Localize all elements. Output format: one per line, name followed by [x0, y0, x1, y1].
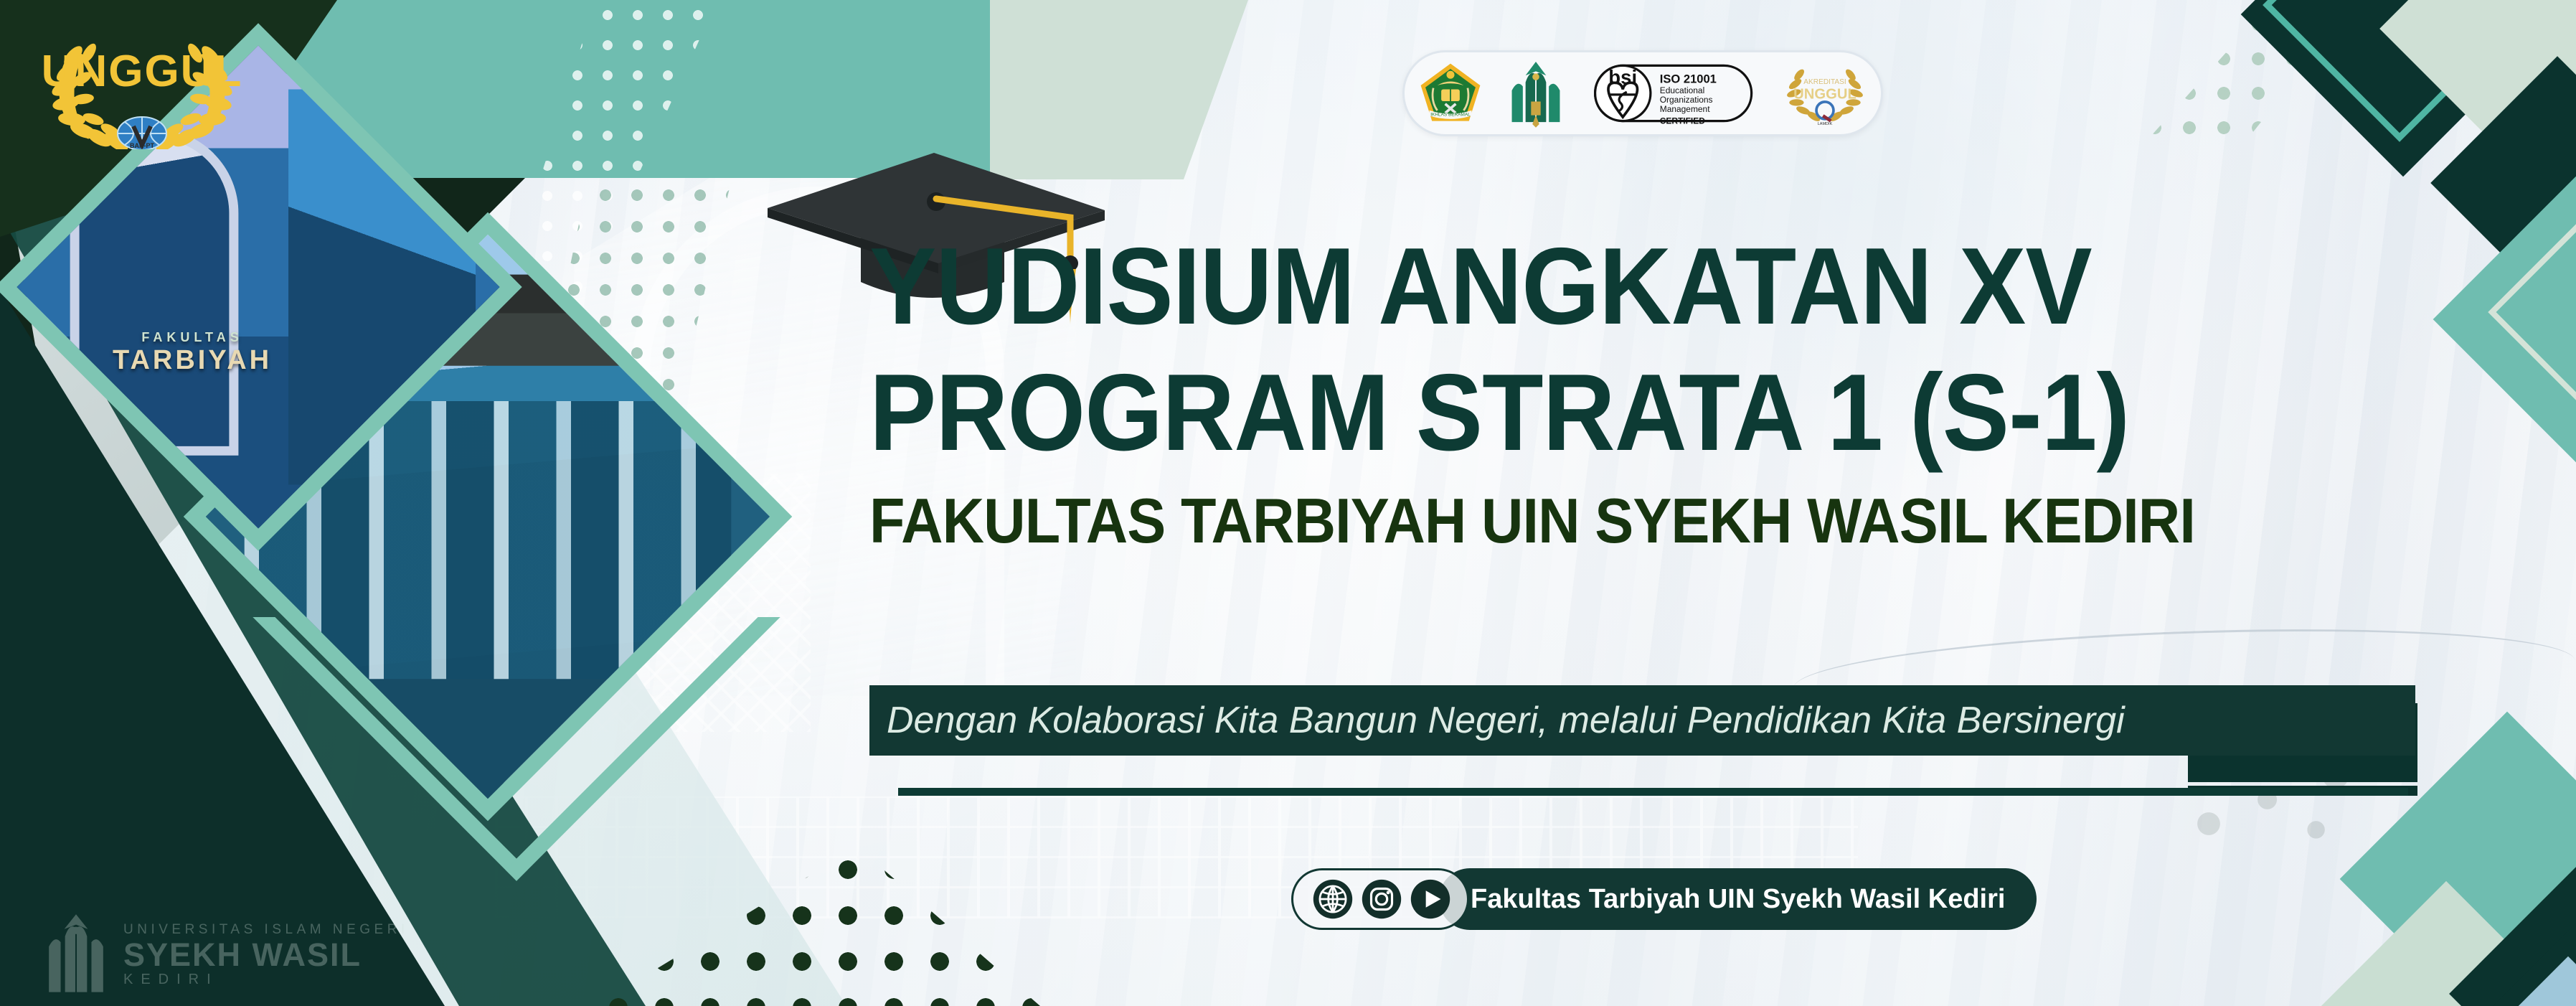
uin-syekh-wasil-logo	[1505, 59, 1567, 128]
headline-line-1: YUDISIUM ANGKATAN XV	[869, 237, 2288, 337]
svg-text:Educational: Educational	[1660, 85, 1704, 95]
svg-text:ISO 21001: ISO 21001	[1660, 72, 1717, 85]
svg-text:UNGGUL: UNGGUL	[1793, 86, 1856, 102]
watermark-line-1: UNIVERSITAS ISLAM NEGERI	[123, 922, 409, 938]
tarbiyah-photo-caption-sub: FAKULTAS	[22, 330, 363, 345]
svg-text:CERTIFIED: CERTIFIED	[1660, 116, 1705, 126]
svg-text:Organizations: Organizations	[1660, 95, 1713, 105]
uin-logo-mark-icon	[43, 913, 109, 997]
divider-rule	[898, 788, 2408, 796]
svg-text:Management: Management	[1660, 104, 1710, 114]
svg-text:AKREDITASI: AKREDITASI	[1803, 78, 1846, 86]
akreditasi-unggul-logo: AKREDITASI UNGGUL LAMDIK	[1782, 60, 1868, 126]
headline-line-2: PROGRAM STRATA 1 (S-1)	[869, 363, 2288, 464]
svg-text:BAN-PT: BAN-PT	[130, 142, 154, 149]
svg-text:LAMDIK: LAMDIK	[1818, 122, 1833, 126]
social-handle-pill[interactable]: Fakultas Tarbiyah UIN Syekh Wasil Kediri	[1439, 868, 2037, 930]
accreditation-unggul-badge: BAN-PT UNGGUL	[20, 13, 264, 149]
globe-icon[interactable]	[1312, 878, 1354, 920]
yudisium-banner: FAKULTAS TARBIYAH	[0, 0, 2576, 1006]
social-icons-pill	[1291, 868, 1469, 930]
youtube-play-icon[interactable]	[1410, 878, 1451, 920]
uin-watermark-text: UNIVERSITAS ISLAM NEGERI SYEKH WASIL KED…	[123, 922, 409, 988]
unggul-badge-label: UNGGUL	[20, 46, 264, 97]
tagline-text: Dengan Kolaborasi Kita Bangun Negeri, me…	[869, 699, 2125, 742]
tagline-ribbon: Dengan Kolaborasi Kita Bangun Negeri, me…	[869, 685, 2415, 756]
bsi-iso-logo: bsi ISO 21001 Educational Organizations …	[1588, 60, 1760, 126]
social-handle-text: Fakultas Tarbiyah UIN Syekh Wasil Kediri	[1471, 884, 2005, 915]
kemenag-logo: IKHLAS BERAMAL	[1417, 60, 1483, 126]
instagram-icon[interactable]	[1361, 878, 1402, 920]
certification-logo-bar: IKHLAS BERAMAL bsi	[1402, 50, 1883, 136]
svg-text:bsi: bsi	[1608, 66, 1637, 88]
headline-block: YUDISIUM ANGKATAN XV PROGRAM STRATA 1 (S…	[869, 237, 2412, 550]
headline-line-3: FAKULTAS TARBIYAH UIN SYEKH WASIL KEDIRI	[869, 492, 2288, 550]
svg-text:IKHLAS BERAMAL: IKHLAS BERAMAL	[1430, 112, 1471, 117]
watermark-line-2: SYEKH WASIL	[123, 938, 409, 972]
tarbiyah-photo-caption-main: TARBIYAH	[113, 345, 272, 375]
watermark-line-3: KEDIRI	[123, 972, 409, 988]
social-media-bar: Fakultas Tarbiyah UIN Syekh Wasil Kediri	[1291, 868, 2037, 930]
uin-watermark: UNIVERSITAS ISLAM NEGERI SYEKH WASIL KED…	[43, 913, 409, 997]
